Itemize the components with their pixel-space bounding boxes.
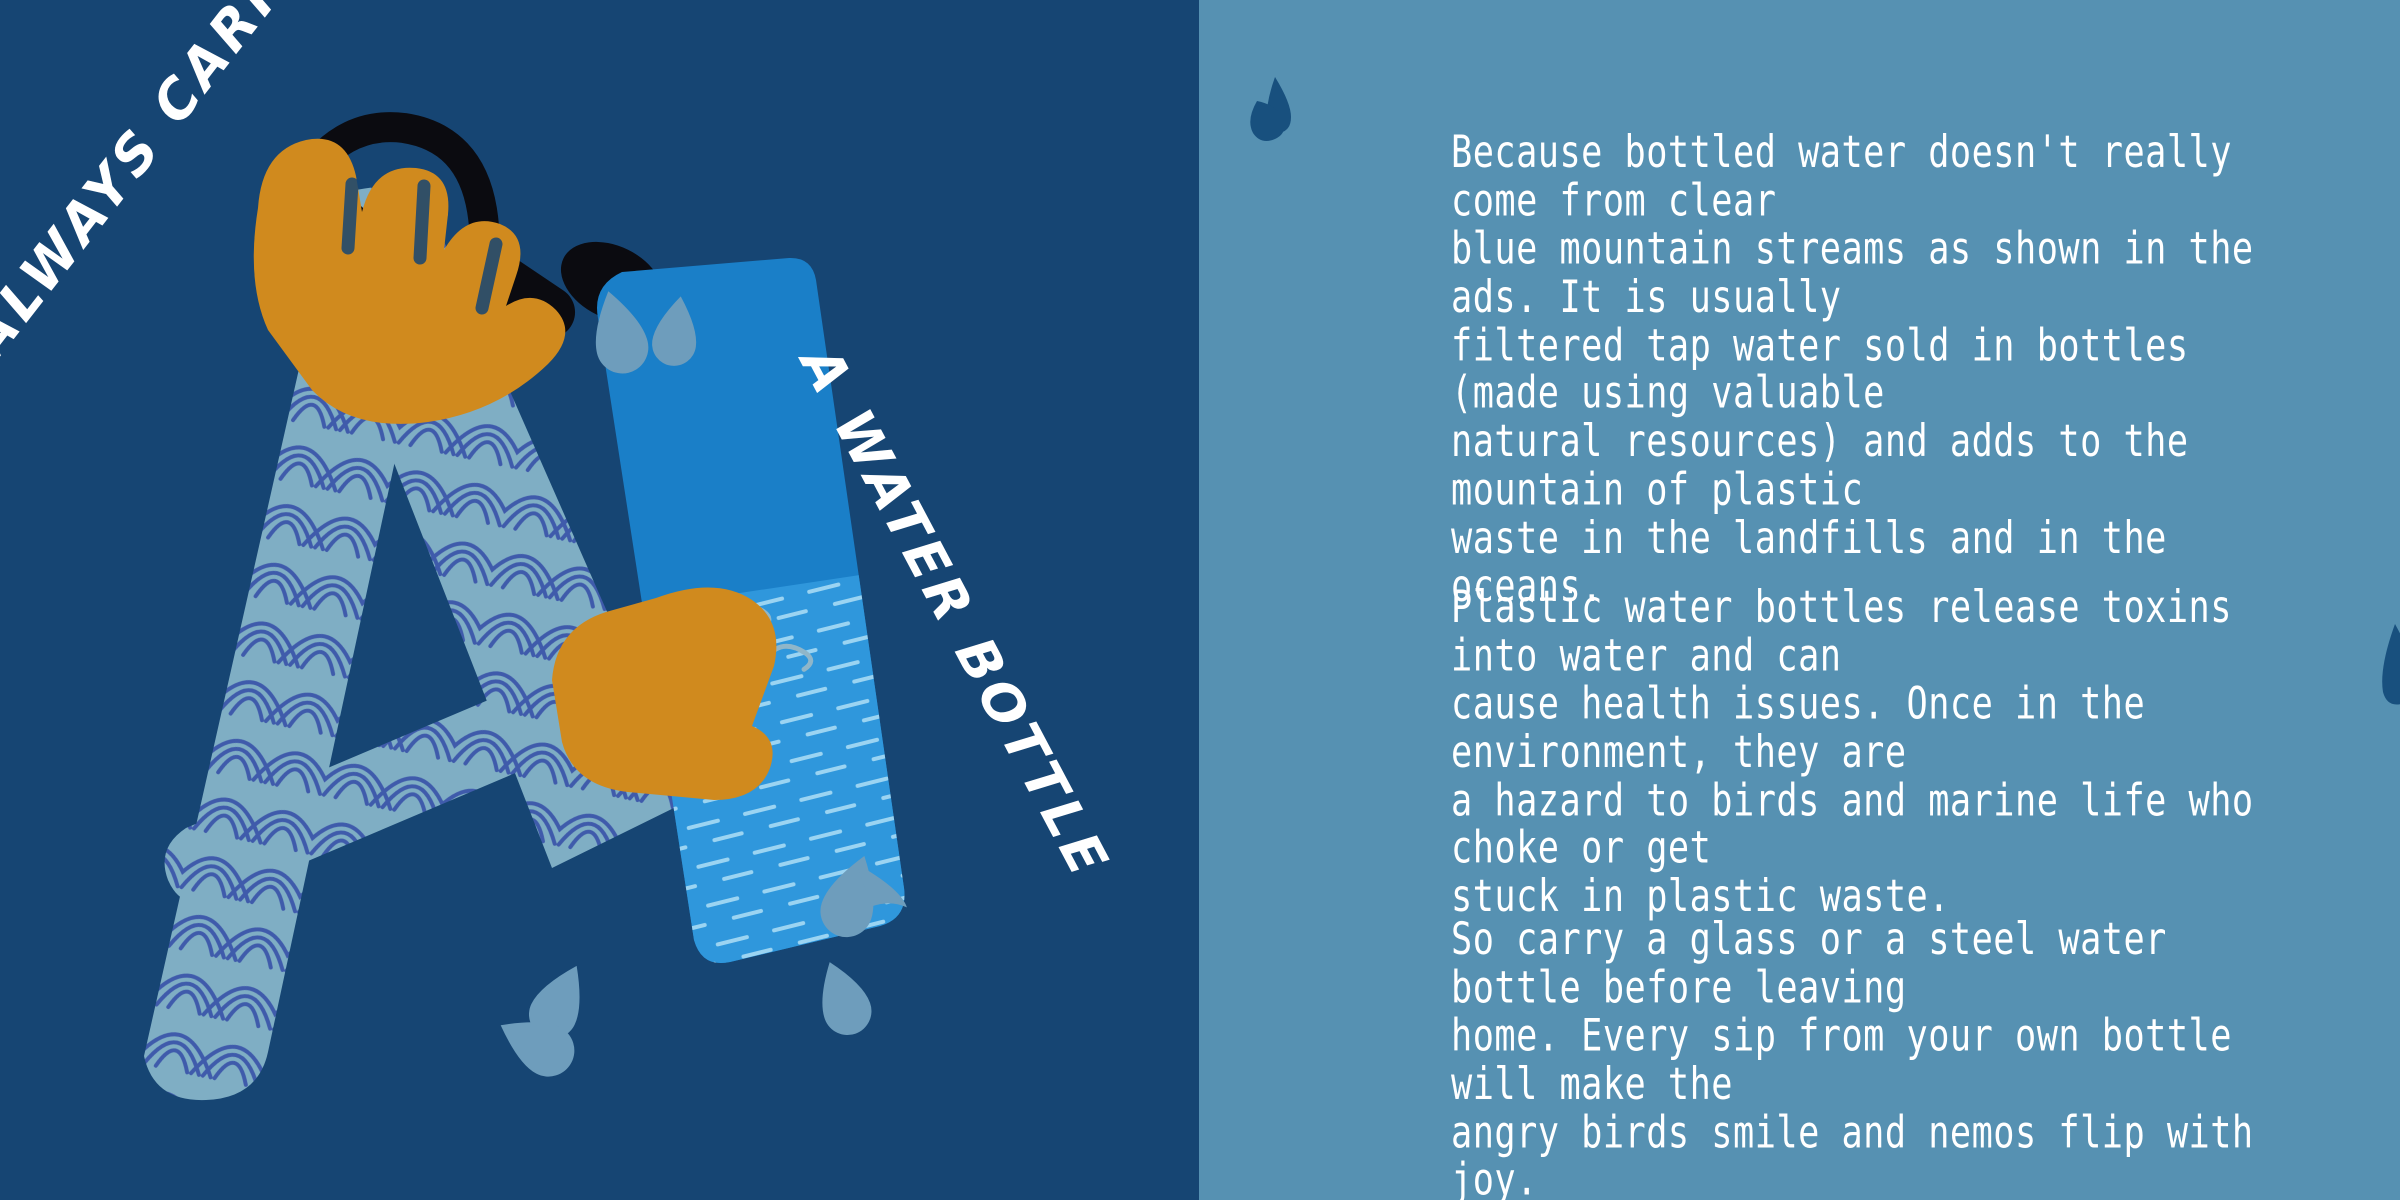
left-illustration-panel: ALWAYS CARRY A WATER BOTTLE	[0, 0, 1199, 1200]
poster-root: ALWAYS CARRY A WATER BOTTLE Because bott…	[0, 0, 2400, 1200]
letter-a-illustration	[0, 0, 1199, 1200]
article-body: Because bottled water doesn't really com…	[1451, 128, 2361, 1160]
splash-droplet-icon-top	[1235, 75, 1315, 155]
paragraph-2: Plastic water bottles release toxins int…	[1451, 583, 2306, 921]
paragraph-1: Because bottled water doesn't really com…	[1451, 128, 2306, 610]
paragraph-3: So carry a glass or a steel water bottle…	[1451, 915, 2306, 1200]
right-text-panel: Because bottled water doesn't really com…	[1199, 0, 2400, 1200]
splash-droplet-icon-bottom	[2359, 620, 2400, 710]
